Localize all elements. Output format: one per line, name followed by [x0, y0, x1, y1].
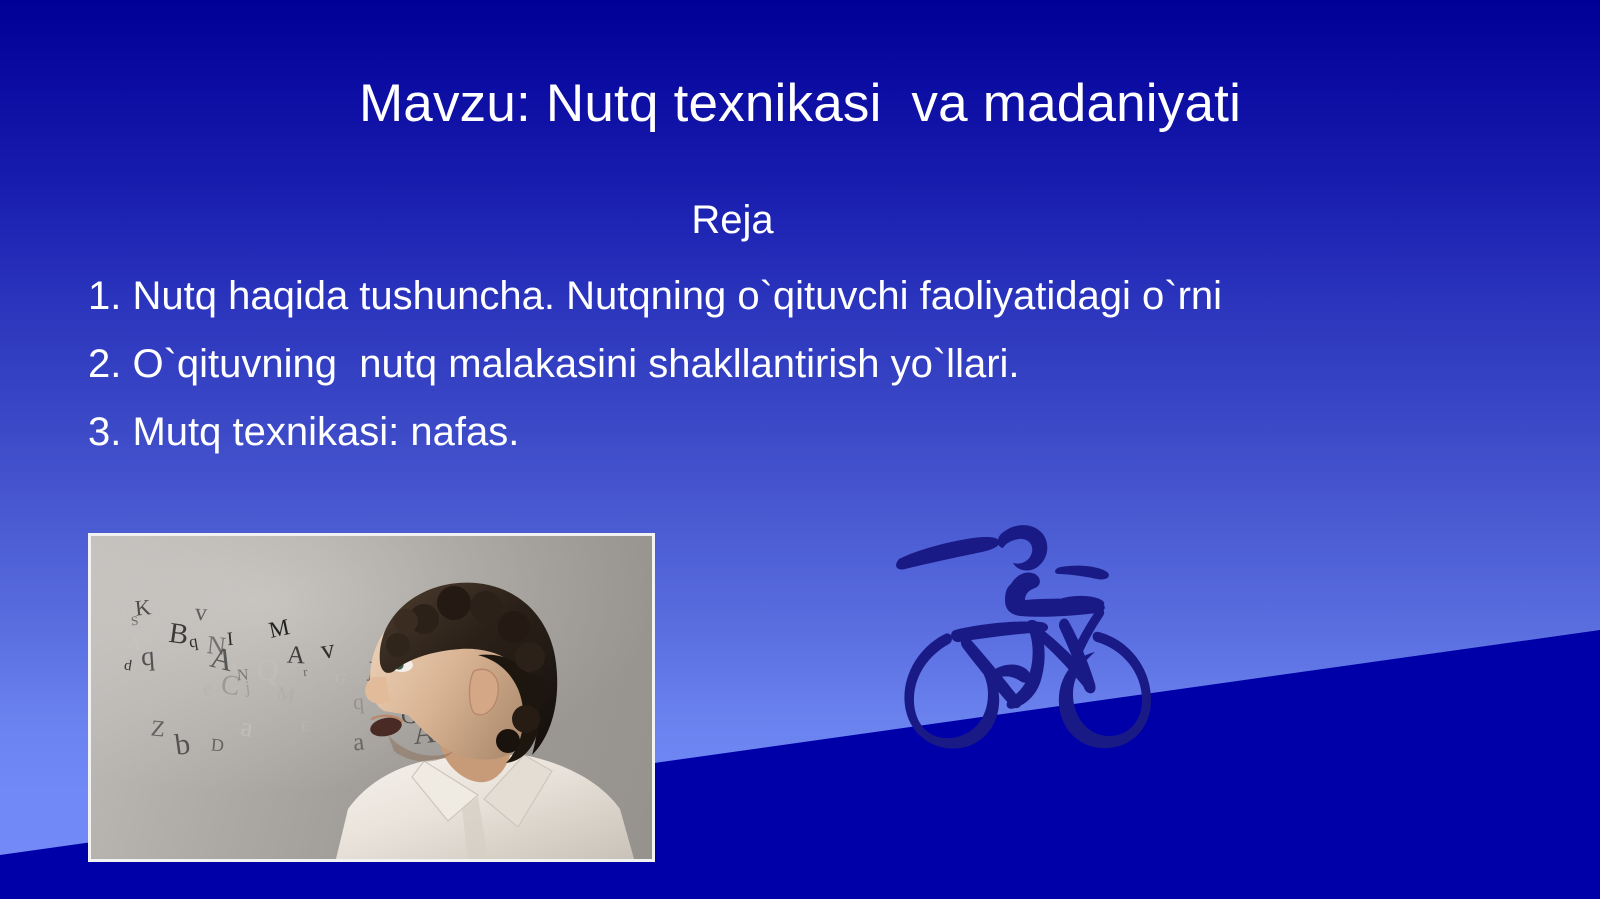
scattered-letter: Z [150, 716, 166, 740]
scattered-letter: N [206, 632, 227, 660]
scattered-letter: d [123, 658, 133, 674]
list-item: 1. Nutq haqida tushuncha. Nutqning o`qit… [88, 262, 1538, 330]
section-heading-reja: Reja [0, 196, 1600, 244]
scattered-letter: r [302, 665, 308, 678]
scattered-letter: b [173, 729, 192, 761]
scattered-letter: M [275, 683, 296, 706]
scattered-letter: a [239, 713, 255, 742]
scattered-letter: j [244, 678, 251, 696]
scattered-letter: e [202, 678, 214, 700]
scattered-letter: q [188, 632, 199, 650]
scattered-letter: K [134, 597, 152, 621]
scattered-letter: M [267, 615, 292, 642]
presentation-slide: Mavzu: Nutq texnikasi va madaniyati Reja… [0, 0, 1600, 899]
bicycle-icon [893, 512, 1163, 752]
scattered-letter: q [140, 642, 155, 670]
scattered-letter: E [300, 719, 312, 735]
scattered-letter: D [210, 736, 225, 755]
photo-man-with-letters: SAqdKBqvAINveCNMQjArMvGqKxGAdjnKwUZbDaAi… [88, 533, 655, 862]
scattered-letter: v [194, 600, 208, 625]
list-item: 2. O`qituvning nutq malakasini shakllant… [88, 330, 1538, 398]
man-figure [328, 559, 652, 859]
list-item: 3. Mutq texnikasi: nafas. [88, 398, 1538, 466]
plan-list: 1. Nutq haqida tushuncha. Nutqning o`qit… [88, 262, 1538, 466]
scattered-letter: Q [256, 655, 280, 687]
slide-title: Mavzu: Nutq texnikasi va madaniyati [0, 74, 1600, 135]
photo-content: SAqdKBqvAINveCNMQjArMvGqKxGAdjnKwUZbDaAi… [91, 536, 652, 859]
